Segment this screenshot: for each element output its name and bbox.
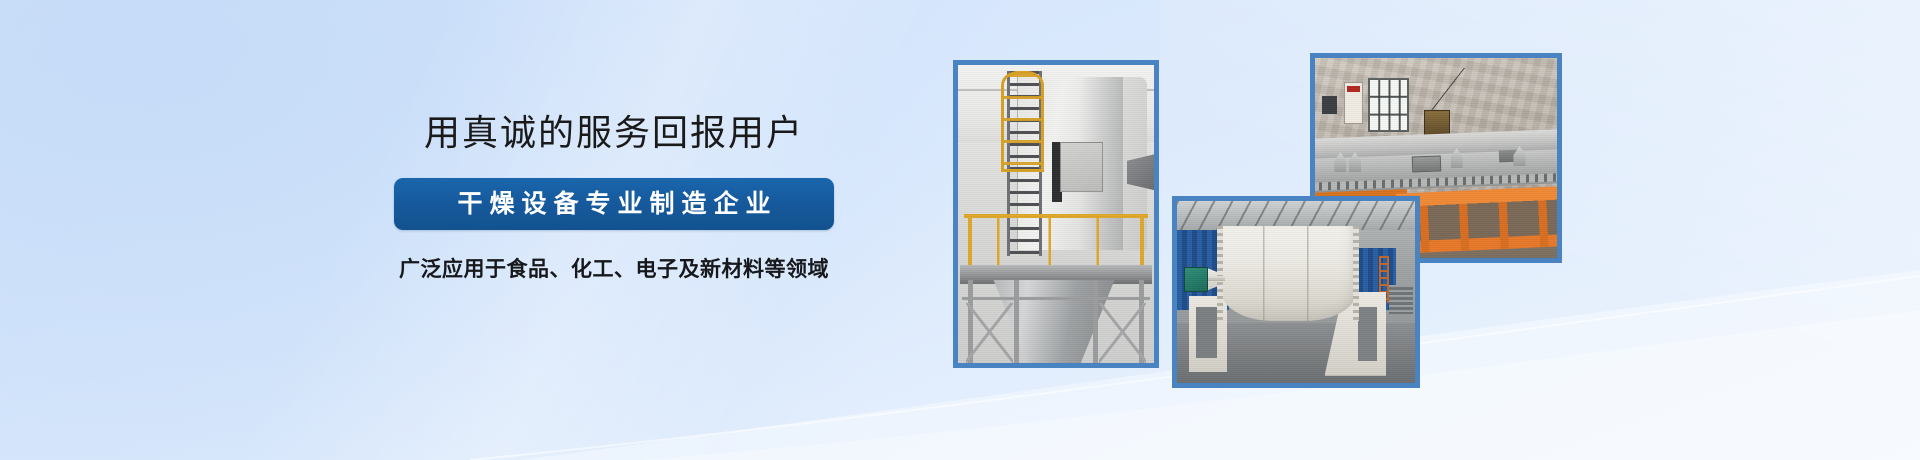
orange-frame-legs: [1396, 186, 1557, 253]
drive-motor: [1424, 110, 1450, 136]
handrail-posts: [964, 214, 1148, 268]
banner-subline: 广泛应用于食品、化工、电子及新材料等领域: [294, 254, 934, 284]
leg-cutout-right: [1358, 307, 1377, 362]
wall-notice-sign: [1344, 82, 1363, 124]
inspection-hatch: [1060, 142, 1103, 192]
cross-brace-right: [1099, 303, 1146, 363]
leg-cutout-left: [1196, 307, 1217, 358]
photo-ribbon-mixer[interactable]: [1172, 196, 1420, 388]
access-port: [1412, 155, 1441, 172]
banner-text-block: 用真诚的服务回报用户 干燥设备专业制造企业 广泛应用于食品、化工、电子及新材料等…: [294, 112, 934, 284]
drum-flange-left: [1217, 226, 1223, 321]
mixer-drum-seams: [1220, 226, 1358, 321]
hanging-cables: [1431, 68, 1465, 112]
ladder-safety-cage: [1001, 71, 1044, 172]
photo-ribbon-mixer-image: [1177, 201, 1415, 383]
wall-electrical-box: [1322, 96, 1337, 114]
factory-window: [1368, 78, 1409, 132]
cross-brace-left: [966, 303, 1013, 363]
photo-spray-dryer-tower-image: [958, 65, 1154, 363]
hero-banner: 用真诚的服务回报用户 干燥设备专业制造企业 广泛应用于食品、化工、电子及新材料等…: [0, 0, 1920, 460]
green-gear-motor: [1184, 267, 1207, 293]
banner-headline: 用真诚的服务回报用户: [294, 112, 934, 156]
banner-tagline-pill: 干燥设备专业制造企业: [394, 178, 834, 230]
horizontal-brace: [962, 297, 1150, 300]
photo-spray-dryer-tower[interactable]: [953, 60, 1159, 368]
drum-flange-right: [1353, 226, 1359, 321]
stacked-materials: [1389, 285, 1413, 314]
